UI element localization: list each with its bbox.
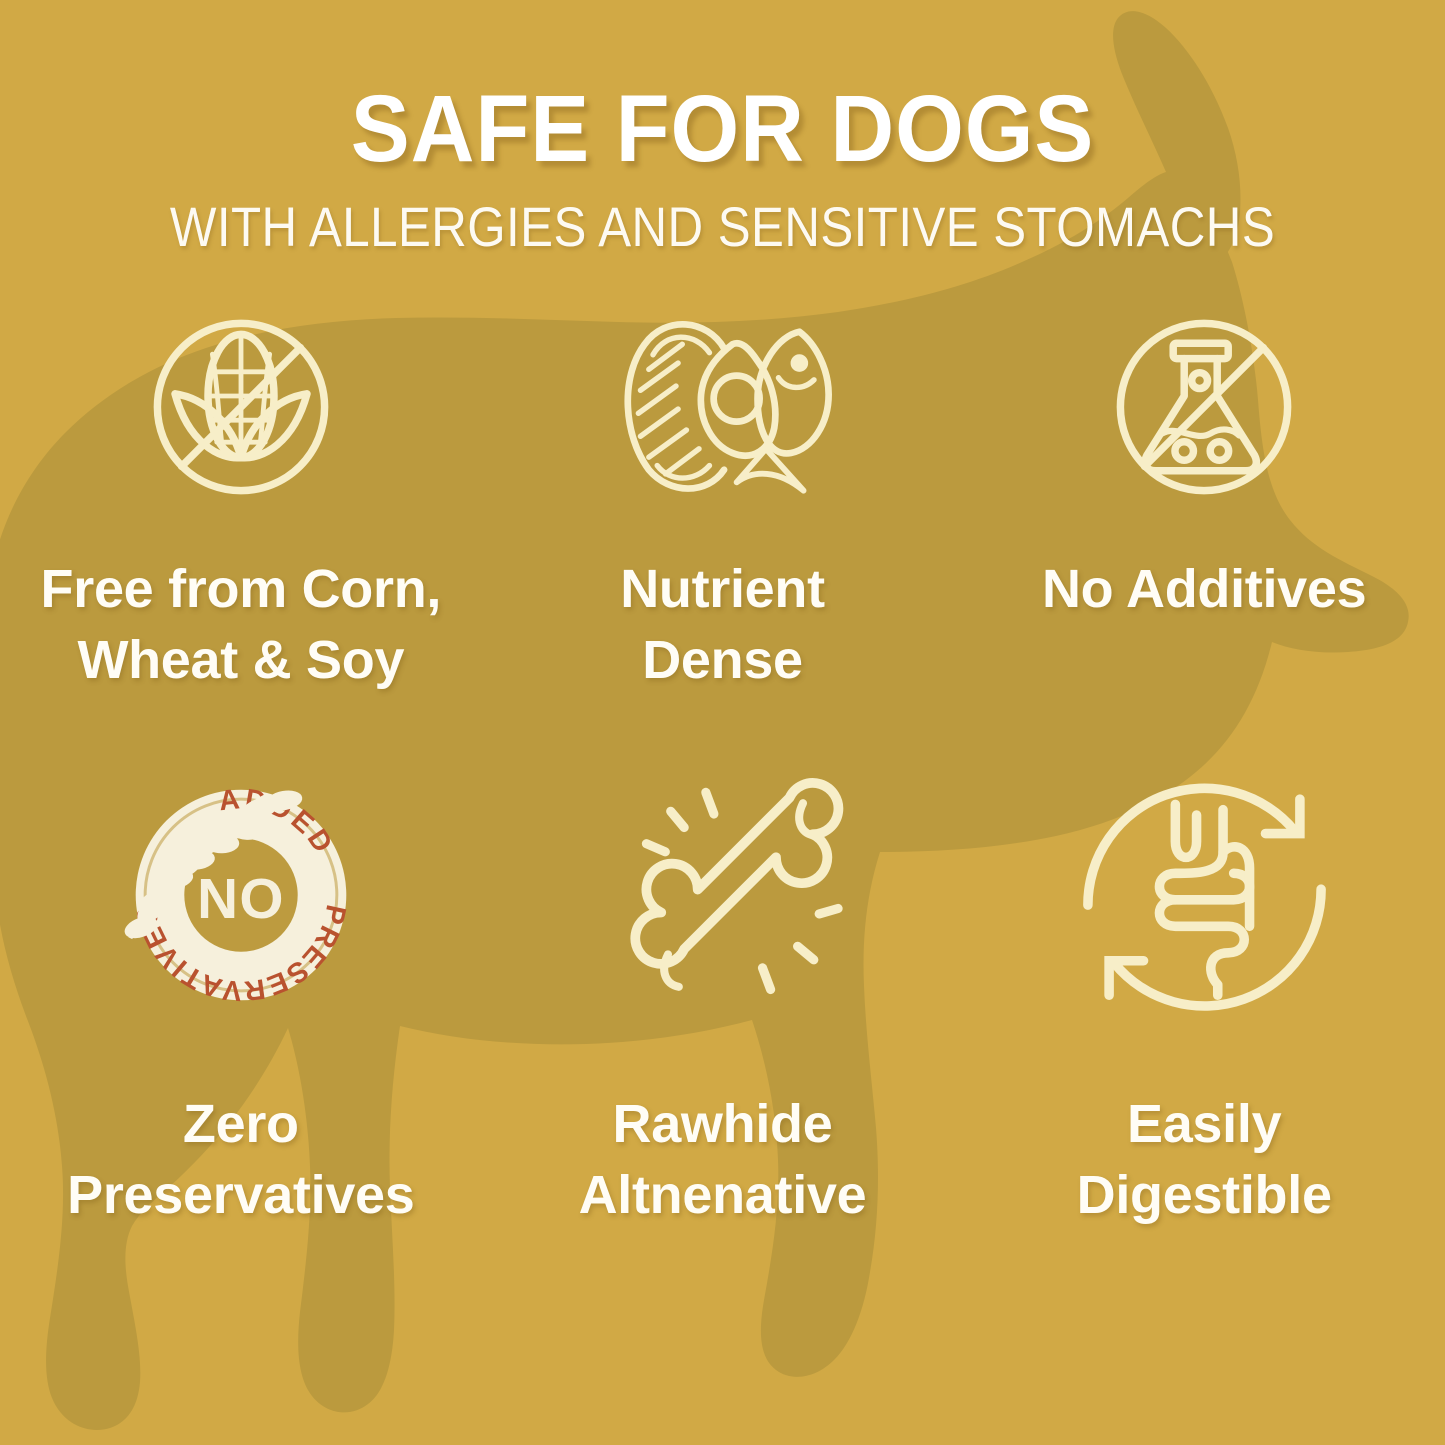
no-flask-icon xyxy=(1094,282,1314,532)
no-added-preservatives-badge-icon: NO ADDED PRESERVATIVES xyxy=(106,745,376,1045)
feature-label-line: Free from Corn, xyxy=(41,554,442,625)
feature-item-free-from-corn: Free from Corn, Wheat & Soy xyxy=(0,282,482,697)
feature-item-nutrient-dense: Nutrient Dense xyxy=(482,282,964,697)
feature-label-line: Wheat & Soy xyxy=(41,625,442,696)
feature-label-line: Preservatives xyxy=(67,1160,414,1231)
feature-label-line: Nutrient xyxy=(620,554,825,625)
feature-label-line: Dense xyxy=(620,625,825,696)
feature-label: No Additives xyxy=(1042,554,1366,625)
feature-label-line: Digestible xyxy=(1077,1160,1332,1231)
feature-item-no-additives: No Additives xyxy=(963,282,1445,697)
feature-label: Nutrient Dense xyxy=(620,554,825,697)
feature-item-rawhide-alternative: Rawhide Altnenative xyxy=(482,745,964,1232)
header: SAFE FOR DOGS WITH ALLERGIES AND SENSITI… xyxy=(0,0,1445,255)
no-corn-icon xyxy=(131,282,351,532)
feature-label-line: Altnenative xyxy=(579,1160,867,1231)
bone-icon xyxy=(587,745,857,1045)
feature-grid: Free from Corn, Wheat & Soy Nutrient Den… xyxy=(0,282,1445,1231)
feature-label-line: Easily xyxy=(1077,1089,1332,1160)
feature-label-line: Zero xyxy=(67,1089,414,1160)
feature-label: Free from Corn, Wheat & Soy xyxy=(41,554,442,697)
badge-center-text: NO xyxy=(197,867,285,930)
feature-item-easily-digestible: Easily Digestible xyxy=(963,745,1445,1232)
digestion-intestines-icon xyxy=(1072,745,1337,1045)
feature-item-zero-preservatives: NO ADDED PRESERVATIVES xyxy=(0,745,482,1232)
steak-egg-fish-icon xyxy=(607,282,837,532)
feature-label: Easily Digestible xyxy=(1077,1089,1332,1232)
page-title: SAFE FOR DOGS xyxy=(51,82,1395,177)
feature-label: Rawhide Altnenative xyxy=(579,1089,867,1232)
feature-label: Zero Preservatives xyxy=(67,1089,414,1232)
feature-label-line: No Additives xyxy=(1042,554,1366,625)
feature-label-line: Rawhide xyxy=(579,1089,867,1160)
page-subtitle: WITH ALLERGIES AND SENSITIVE STOMACHS xyxy=(87,199,1359,255)
